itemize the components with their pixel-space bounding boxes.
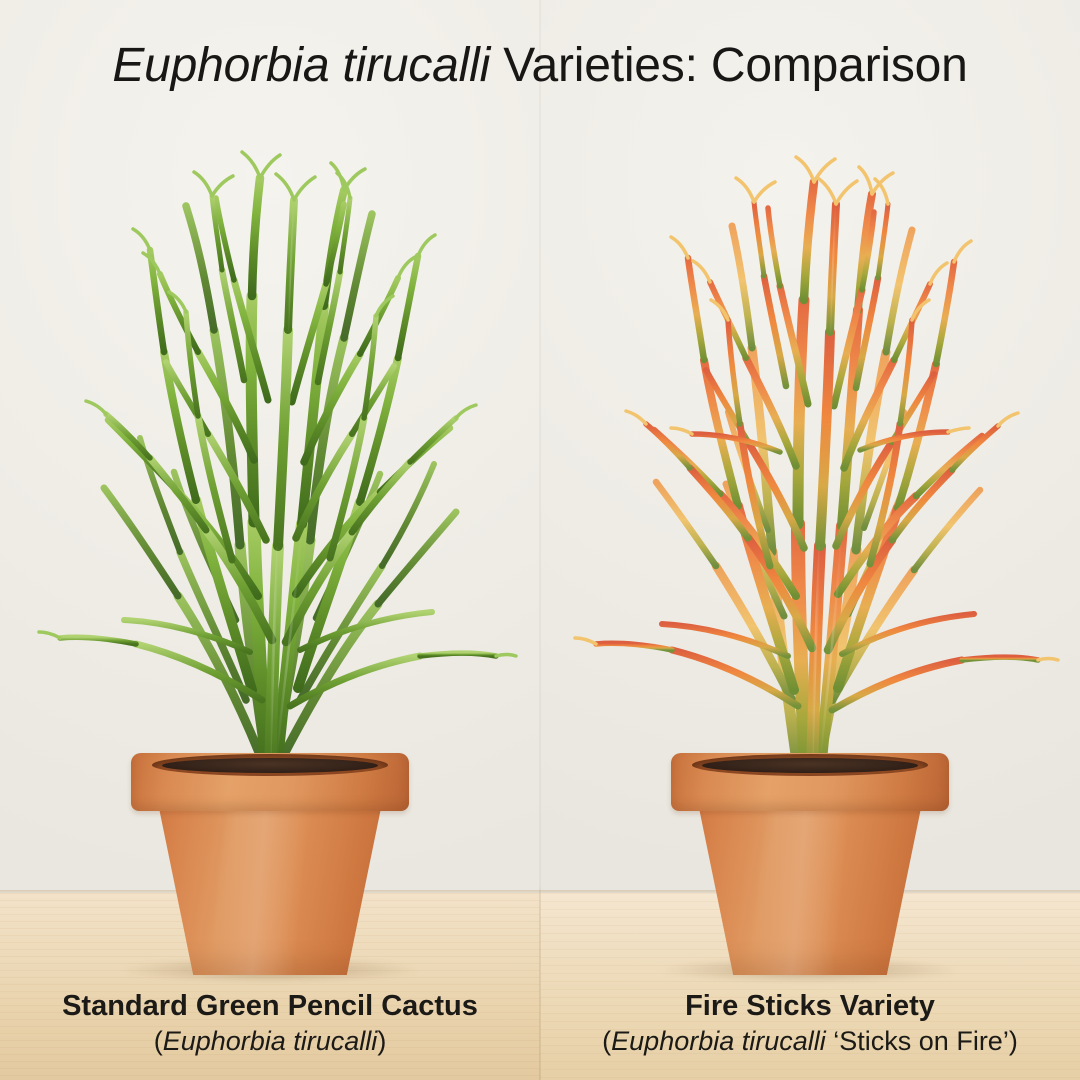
title-rest: Varieties: Comparison	[490, 39, 968, 92]
potting-soil	[702, 758, 918, 773]
plant-fire-sticks	[540, 0, 1080, 780]
paren-close: )	[1009, 1026, 1018, 1056]
caption-scientific-name: (Euphorbia tirucalli ‘Sticks on Fire’)	[540, 1026, 1080, 1058]
cultivar-name: ‘Sticks on Fire’	[826, 1026, 1009, 1056]
caption-scientific-name: (Euphorbia tirucalli)	[0, 1026, 540, 1058]
panel-standard-green	[0, 0, 540, 1080]
potting-soil	[162, 758, 378, 773]
panel-fire-sticks	[540, 0, 1080, 1080]
caption-common-name: Fire Sticks Variety	[540, 990, 1080, 1022]
caption-standard-green: Standard Green Pencil Cactus (Euphorbia …	[0, 990, 540, 1058]
panel-divider	[539, 0, 541, 1080]
paren-close: )	[377, 1026, 386, 1056]
caption-fire-sticks: Fire Sticks Variety (Euphorbia tirucalli…	[540, 990, 1080, 1058]
caption-common-name: Standard Green Pencil Cactus	[0, 990, 540, 1022]
page-title: Euphorbia tirucalli Varieties: Compariso…	[0, 38, 1080, 93]
plant-standard-green	[0, 0, 540, 780]
scientific-binomial: Euphorbia tirucalli	[611, 1026, 826, 1056]
pot-body	[682, 800, 938, 975]
scientific-binomial: Euphorbia tirucalli	[163, 1026, 378, 1056]
comparison-figure: Euphorbia tirucalli Varieties: Compariso…	[0, 0, 1080, 1080]
pot-body	[142, 800, 398, 975]
terracotta-pot-left	[0, 745, 540, 985]
paren-open: (	[154, 1026, 163, 1056]
paren-open: (	[602, 1026, 611, 1056]
title-scientific-name: Euphorbia tirucalli	[112, 39, 490, 92]
terracotta-pot-right	[540, 745, 1080, 985]
